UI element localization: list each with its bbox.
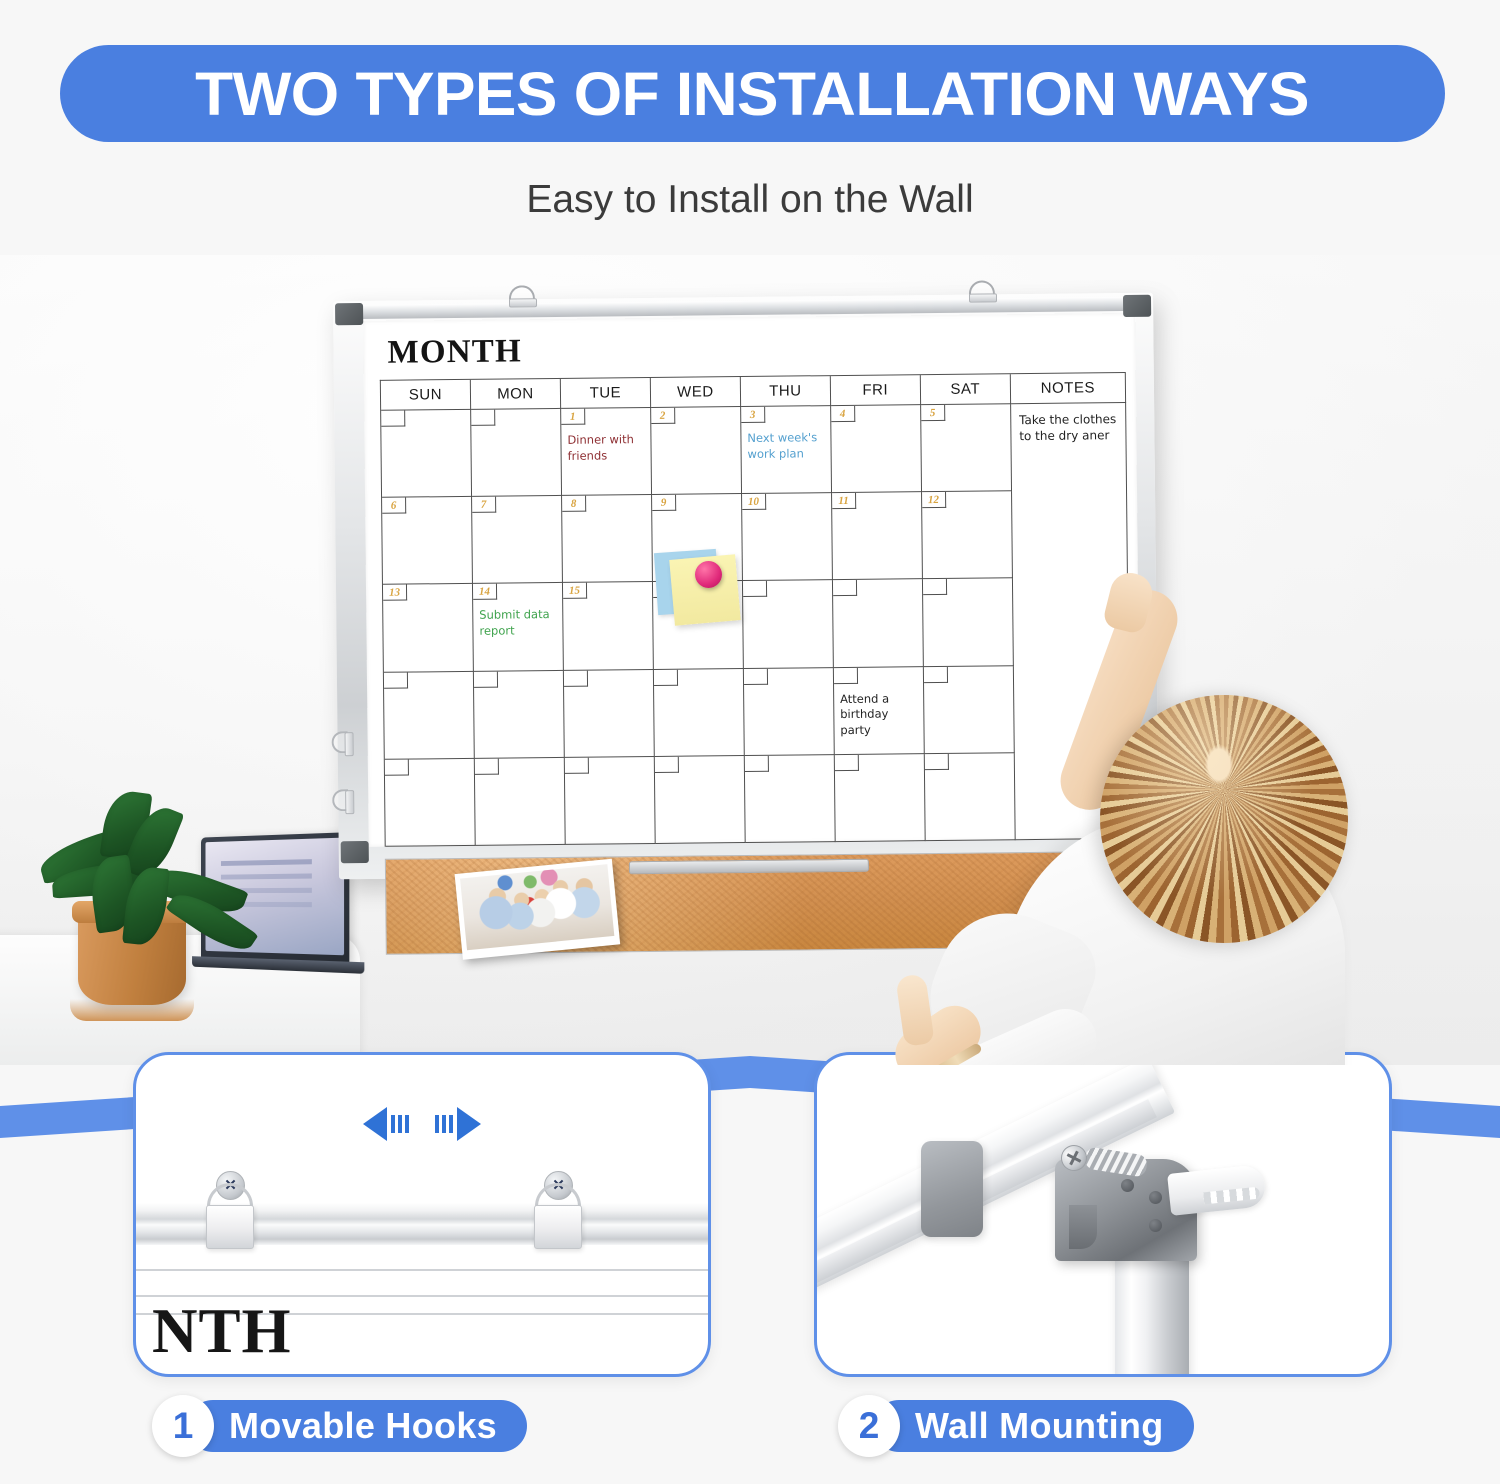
- corner-cap: [341, 841, 369, 863]
- calendar-day-number: [565, 757, 589, 773]
- calendar-cell[interactable]: 7: [472, 496, 563, 584]
- calendar-day-number: [743, 581, 767, 597]
- calendar-col-header-wed: WED: [651, 377, 741, 408]
- calendar-cell[interactable]: 1Dinner with friends: [561, 408, 652, 496]
- calendar: MONTH SUNMONTUEWEDTHUFRISATNOTES1Dinner …: [379, 323, 1130, 847]
- calendar-cell[interactable]: [743, 580, 834, 668]
- mounting-clip: [1167, 1164, 1267, 1216]
- calendar-cell[interactable]: Attend a birthday party: [834, 667, 925, 755]
- calendar-cell[interactable]: 14Submit data report: [473, 583, 564, 671]
- calendar-col-header-sun: SUN: [381, 380, 471, 411]
- page-subtitle: Easy to Install on the Wall: [0, 178, 1500, 222]
- calendar-day-number: [834, 667, 858, 683]
- calendar-day-number: 1: [561, 409, 585, 425]
- calendar-cell[interactable]: 15: [563, 582, 654, 670]
- calendar-day-number: 15: [563, 583, 587, 599]
- left-arrow-icon: [363, 1107, 409, 1141]
- wall-mount-plate: [921, 1141, 983, 1237]
- calendar-col-header-fri: FRI: [831, 375, 921, 406]
- calendar-day-number: [835, 755, 859, 771]
- panel-wall-mounting: [814, 1052, 1392, 1377]
- right-arrow-icon: [435, 1107, 481, 1141]
- calendar-cell[interactable]: [655, 756, 746, 844]
- calendar-cell[interactable]: [564, 670, 655, 758]
- calendar-cell[interactable]: 5: [921, 404, 1012, 492]
- slide-arrows: [136, 1107, 708, 1141]
- corner-cap: [1123, 295, 1151, 317]
- calendar-cell[interactable]: [384, 671, 475, 759]
- calendar-cell[interactable]: [654, 669, 745, 757]
- lifestyle-scene: MONTH SUNMONTUEWEDTHUFRISATNOTES1Dinner …: [0, 255, 1500, 1065]
- magnet: [695, 561, 722, 588]
- calendar-day-number: 13: [383, 585, 407, 601]
- calendar-cell[interactable]: 2: [651, 407, 742, 495]
- calendar-day-number: [384, 672, 408, 688]
- calendar-day-number: 10: [742, 494, 766, 510]
- calendar-day-number: 2: [651, 408, 675, 424]
- calendar-col-header-sat: SAT: [921, 374, 1011, 405]
- calendar-day-number: 11: [832, 493, 856, 509]
- hook-plate: [206, 1205, 254, 1249]
- calendar-cell[interactable]: 13: [383, 584, 474, 672]
- label-text: Movable Hooks: [187, 1400, 527, 1452]
- panel-movable-hooks: NTH: [133, 1052, 711, 1377]
- calendar-cell[interactable]: [475, 758, 566, 846]
- calendar-day-number: [924, 666, 948, 682]
- calendar-day-number: 9: [652, 495, 676, 511]
- calendar-day-number: 14: [473, 584, 497, 600]
- label-movable-hooks: 1 Movable Hooks: [152, 1395, 527, 1457]
- label-number: 2: [838, 1395, 900, 1457]
- calendar-cell[interactable]: [385, 759, 476, 847]
- hanging-hook-icon[interactable]: [969, 280, 997, 302]
- partial-month-text: NTH: [152, 1295, 292, 1368]
- corner-cap: [335, 303, 363, 325]
- calendar-day-number: [745, 756, 769, 772]
- family-photo: [455, 859, 621, 960]
- calendar-col-header-tue: TUE: [561, 378, 651, 409]
- calendar-day-number: 6: [382, 498, 406, 514]
- calendar-day-number: [744, 668, 768, 684]
- label-wall-mounting: 2 Wall Mounting: [838, 1395, 1194, 1457]
- calendar-day-number: [923, 579, 947, 595]
- calendar-cell[interactable]: [923, 579, 1014, 667]
- calendar-cell[interactable]: 3Next week's work plan: [741, 406, 832, 494]
- bracket-knob: [1149, 1191, 1162, 1204]
- calendar-day-number: 8: [562, 496, 586, 512]
- calendar-day-number: 3: [741, 407, 765, 423]
- calendar-month-title: MONTH: [379, 323, 1125, 380]
- calendar-cell[interactable]: [471, 409, 562, 497]
- calendar-day-number: [471, 410, 495, 426]
- calendar-cell[interactable]: 4: [831, 405, 922, 493]
- hook-plate: [534, 1205, 582, 1249]
- bracket-knob: [1149, 1219, 1162, 1232]
- calendar-cell[interactable]: [833, 580, 924, 668]
- calendar-day-number: [925, 754, 949, 770]
- calendar-day-number: 5: [921, 405, 945, 421]
- calendar-cell[interactable]: [925, 753, 1016, 841]
- whiteboard-surface: MONTH SUNMONTUEWEDTHUFRISATNOTES1Dinner …: [363, 313, 1140, 847]
- calendar-cell[interactable]: [924, 666, 1015, 754]
- side-hook-icon[interactable]: [331, 731, 353, 757]
- calendar-grid: SUNMONTUEWEDTHUFRISATNOTES1Dinner with f…: [380, 372, 1131, 847]
- calendar-col-header-notes: NOTES: [1011, 373, 1126, 404]
- calendar-cell[interactable]: 12: [922, 491, 1013, 579]
- calendar-cell[interactable]: [745, 755, 836, 843]
- calendar-event-note: Submit data report: [479, 607, 558, 639]
- calendar-cell[interactable]: [474, 671, 565, 759]
- calendar-col-header-thu: THU: [741, 376, 831, 407]
- calendar-day-number: 4: [831, 406, 855, 422]
- calendar-cell[interactable]: [565, 757, 656, 845]
- calendar-day-number: [655, 757, 679, 773]
- photo-image: [460, 864, 614, 950]
- whiteboard: MONTH SUNMONTUEWEDTHUFRISATNOTES1Dinner …: [333, 293, 1159, 880]
- calendar-event-note: Attend a birthday party: [840, 691, 919, 738]
- calendar-day-number: [381, 411, 405, 427]
- movable-hook-icon[interactable]: [198, 1167, 262, 1245]
- calendar-cell[interactable]: 11: [832, 492, 923, 580]
- whiteboard-aluminum-frame: MONTH SUNMONTUEWEDTHUFRISATNOTES1Dinner …: [333, 293, 1159, 880]
- calendar-day-number: [833, 580, 857, 596]
- calendar-day-number: [385, 759, 409, 775]
- notes-text: Take the clothes to the dry aner: [1019, 411, 1122, 444]
- calendar-cell[interactable]: 6: [382, 497, 473, 585]
- bracket-knob: [1121, 1179, 1134, 1192]
- calendar-cell[interactable]: 10: [742, 493, 833, 581]
- calendar-day-number: [474, 671, 498, 687]
- rail-line: [133, 1269, 711, 1271]
- calendar-cell[interactable]: 8: [562, 495, 653, 583]
- calendar-day-number: [654, 669, 678, 685]
- movable-hook-icon[interactable]: [526, 1167, 590, 1245]
- corner-cap: [1129, 833, 1157, 855]
- label-text: Wall Mounting: [873, 1400, 1194, 1452]
- calendar-day-number: [564, 670, 588, 686]
- hanging-hook-icon[interactable]: [509, 285, 537, 307]
- calendar-col-header-mon: MON: [471, 379, 561, 410]
- calendar-cell[interactable]: [835, 754, 926, 842]
- calendar-day-number: 12: [922, 492, 946, 508]
- label-number: 1: [152, 1395, 214, 1457]
- header-title-pill: TWO TYPES OF INSTALLATION WAYS: [60, 45, 1445, 142]
- calendar-cell[interactable]: [744, 668, 835, 756]
- calendar-event-note: Next week's work plan: [747, 430, 826, 462]
- side-hook-icon[interactable]: [332, 789, 354, 815]
- marker-tray: [629, 859, 869, 875]
- bracket-slot: [1069, 1205, 1097, 1249]
- calendar-day-number: [475, 758, 499, 774]
- calendar-cell[interactable]: [381, 410, 472, 498]
- calendar-event-note: Dinner with friends: [567, 432, 646, 464]
- page-title: TWO TYPES OF INSTALLATION WAYS: [196, 59, 1310, 129]
- calendar-notes-column[interactable]: Take the clothes to the dry aner: [1011, 403, 1131, 840]
- calendar-day-number: 7: [472, 497, 496, 513]
